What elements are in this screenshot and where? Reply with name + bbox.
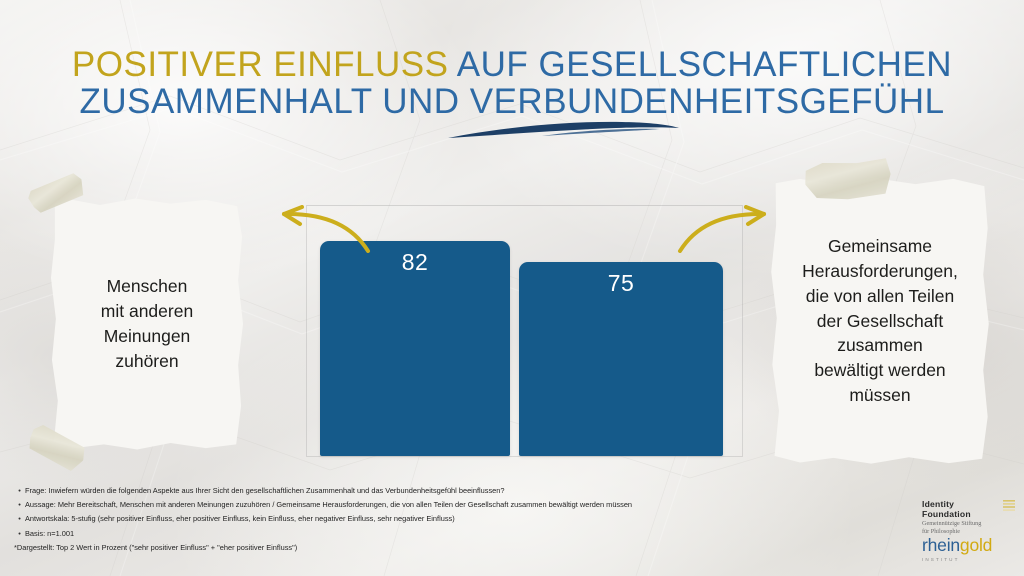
logo-block: Identity Foundation Gemeinnützige Stiftu… [922, 500, 1016, 566]
footnote-item: • Antwortskala: 5-stufig (sehr positiver… [14, 512, 774, 526]
footnote-item: • Frage: Inwiefern würden die folgenden … [14, 484, 774, 498]
footnote-item: • Basis: n=1.001 [14, 527, 774, 541]
footnote-text-2: Antwortskala: 5-stufig (sehr positiver E… [25, 512, 455, 526]
identity-foundation-tagline-line1: Gemeinnützige Stiftung [922, 520, 1016, 527]
identity-foundation-mark-icon [1003, 500, 1015, 511]
slide-background: POSITIVER EINFLUSS AUF GESELLSCHAFTLICHE… [0, 0, 1024, 576]
title-underline-swoosh-icon [446, 118, 682, 144]
title-gold-text: POSITIVER EINFLUSS [72, 45, 449, 84]
bullet-icon: • [14, 512, 25, 526]
title-blue-text: AUF GESELLSCHAFTLICHEN [449, 45, 953, 84]
rheingold-wordmark: rheingold [922, 537, 1016, 555]
bar-series-1[interactable]: 75 [519, 262, 723, 456]
title-line-1: POSITIVER EINFLUSS AUF GESELLSCHAFTLICHE… [0, 46, 1024, 83]
identity-foundation-tagline: Gemeinnützige Stiftung für Philosophie [922, 520, 1016, 535]
page-title: POSITIVER EINFLUSS AUF GESELLSCHAFTLICHE… [0, 46, 1024, 120]
bullet-icon: • [14, 527, 25, 541]
title-line-2: ZUSAMMENHALT UND VERBUNDENHEITSGEFÜHL [0, 83, 1024, 120]
note-card-right-text: Gemeinsame Herausforderungen, die von al… [788, 234, 972, 408]
bar-value-label-0: 82 [320, 249, 510, 276]
footnote-item: • Aussage: Mehr Bereitschaft, Menschen m… [14, 498, 774, 512]
footnotes: • Frage: Inwiefern würden die folgenden … [14, 484, 774, 555]
rheingold-word-gold: gold [960, 535, 992, 555]
rheingold-institut-logo: rheingold INSTITUT [922, 537, 1016, 562]
note-card-left: Menschen mit anderen Meinungen zuhören [49, 196, 245, 452]
footnote-text-0: Frage: Inwiefern würden die folgenden As… [25, 484, 504, 498]
bullet-icon: • [14, 484, 25, 498]
identity-foundation-tagline-line2: für Philosophie [922, 528, 1016, 535]
footnote-text-1: Aussage: Mehr Bereitschaft, Menschen mit… [25, 498, 632, 512]
rheingold-subtitle: INSTITUT [922, 557, 1016, 562]
rheingold-word-blue: rhein [922, 535, 960, 555]
bar-series-0[interactable]: 82 [320, 241, 510, 456]
note-card-left-text: Menschen mit anderen Meinungen zuhören [87, 274, 207, 373]
footnote-text-3: Basis: n=1.001 [25, 527, 74, 541]
identity-foundation-name-line2: Foundation [922, 510, 1016, 520]
identity-foundation-logo: Identity Foundation Gemeinnützige Stiftu… [922, 500, 1016, 535]
identity-foundation-name: Identity Foundation [922, 500, 1016, 519]
bar-value-label-1: 75 [519, 270, 723, 297]
bullet-icon: • [14, 498, 25, 512]
note-card-right: Gemeinsame Herausforderungen, die von al… [769, 176, 991, 466]
footnote-disclaimer: *Dargestellt: Top 2 Wert in Prozent ("se… [14, 541, 774, 555]
